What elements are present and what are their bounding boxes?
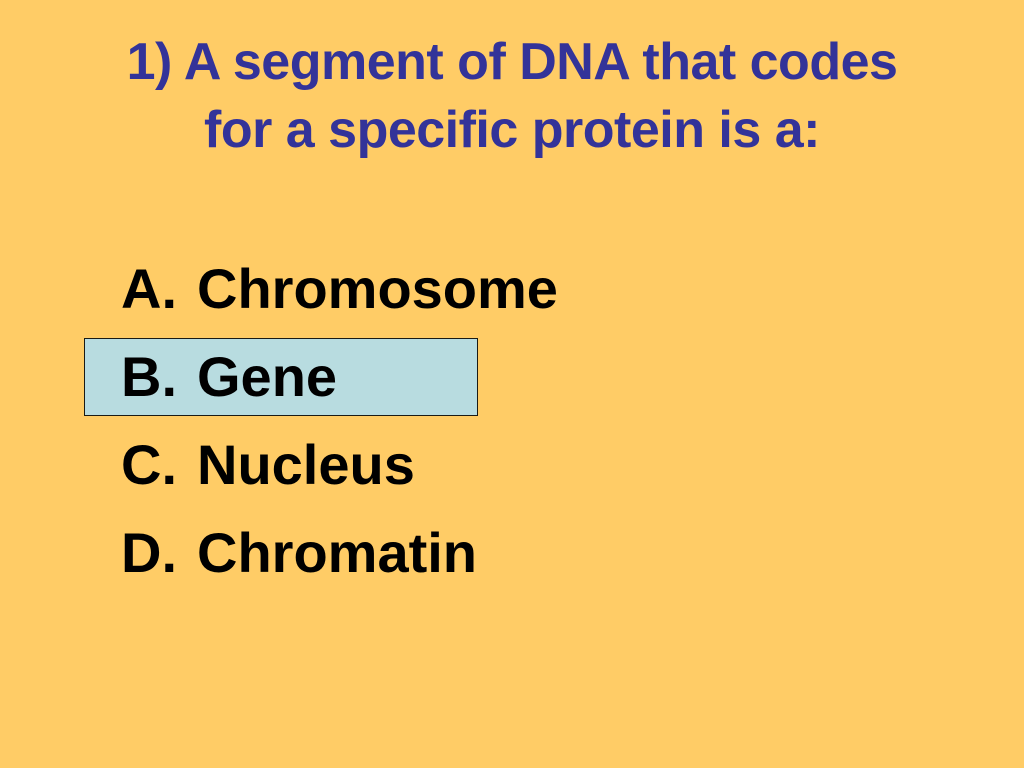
answer-options-list: A. Chromosome B. Gene C. Nucleus D. Chro…	[84, 245, 784, 597]
answer-option-d[interactable]: D. Chromatin	[84, 509, 784, 597]
answer-option-a-letter: A.	[121, 261, 197, 317]
quiz-slide: 1) A segment of DNA that codes for a spe…	[0, 0, 1024, 768]
question-title-line-2: for a specific protein is a:	[0, 96, 1024, 164]
answer-option-b[interactable]: B. Gene	[84, 338, 478, 416]
answer-option-b-letter: B.	[121, 349, 197, 405]
answer-option-b-label: Gene	[197, 349, 337, 405]
answer-option-c[interactable]: C. Nucleus	[84, 421, 784, 509]
page-title: 1) A segment of DNA that codes for a spe…	[0, 28, 1024, 164]
answer-option-c-letter: C.	[121, 437, 197, 493]
answer-option-d-letter: D.	[121, 525, 197, 581]
question-title-line-1: 1) A segment of DNA that codes	[0, 28, 1024, 96]
answer-option-c-label: Nucleus	[197, 437, 415, 493]
answer-option-a-label: Chromosome	[197, 261, 558, 317]
answer-option-d-label: Chromatin	[197, 525, 477, 581]
answer-option-a[interactable]: A. Chromosome	[84, 245, 784, 333]
